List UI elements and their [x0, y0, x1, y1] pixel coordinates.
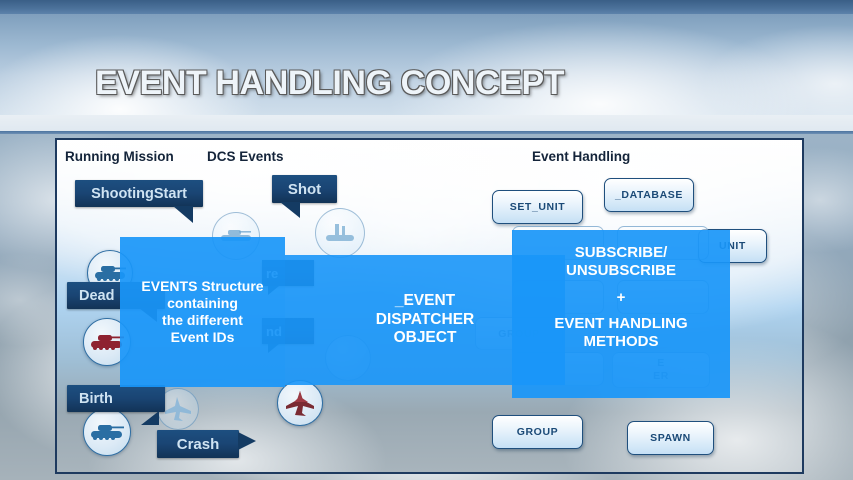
event-tag-label: ShootingStart: [91, 186, 187, 202]
api-box-label: GROUP: [517, 426, 559, 438]
overlay-event-handling: SUBSCRIBE/ UNSUBSCRIBE + EVENT HANDLING …: [512, 230, 730, 398]
event-tag-label: Crash: [177, 436, 220, 453]
api-box-label: _DATABASE: [615, 189, 683, 201]
event-tag-crash[interactable]: Crash: [157, 430, 239, 458]
overlay-plus-sign: +: [617, 290, 626, 305]
page-title: EVENT HANDLING CONCEPT: [95, 64, 564, 103]
event-tag-shot[interactable]: Shot: [272, 175, 337, 203]
header-dcs-events: DCS Events: [207, 149, 284, 164]
api-box-database[interactable]: _DATABASE: [604, 178, 694, 212]
overlay-line-3: EVENT HANDLING: [554, 315, 687, 333]
overlay-line-4: Event IDs: [171, 329, 235, 346]
event-tag-shootingstart[interactable]: ShootingStart: [75, 180, 203, 207]
tag-tail: [173, 206, 193, 223]
header-running-mission: Running Mission: [65, 149, 174, 164]
api-box-label: SPAWN: [650, 432, 691, 444]
slide-stage: EVENT HANDLING CONCEPT Running Mission D…: [0, 0, 853, 480]
vehicle-badge-tank-birth: [83, 408, 131, 456]
top-accent-bar: [0, 0, 853, 14]
overlay-line-2: DISPATCHER: [376, 311, 474, 330]
overlay-line-1: EVENTS Structure: [141, 278, 263, 295]
title-banner: EVENT HANDLING CONCEPT: [0, 14, 853, 115]
header-event-handling: Event Handling: [532, 149, 630, 164]
api-box-spawn[interactable]: SPAWN: [627, 421, 714, 455]
fighter-jet-icon: [284, 389, 316, 417]
airplane-icon: [164, 396, 192, 422]
event-tag-label: Birth: [79, 391, 113, 407]
vehicle-badge-launcher-ghost: [315, 208, 365, 258]
overlay-line-1: _EVENT: [395, 292, 455, 311]
event-tag-label: Dead: [79, 288, 114, 304]
tank-icon: [89, 423, 125, 441]
tag-tail: [141, 411, 159, 425]
event-tag-birth[interactable]: Birth: [67, 385, 165, 412]
overlay-line-2: containing: [167, 295, 238, 312]
tag-tail: [280, 202, 300, 218]
overlay-line-3: the different: [162, 312, 243, 329]
diagram-panel: Running Mission DCS Events Event Handlin…: [55, 138, 804, 474]
banner-divider-line: [0, 131, 853, 134]
overlay-line-3: OBJECT: [394, 329, 457, 348]
missile-launcher-icon: [323, 222, 357, 244]
overlay-line-1: SUBSCRIBE/: [575, 244, 668, 262]
diagram-panel-inner: Running Mission DCS Events Event Handlin…: [57, 140, 802, 472]
tag-tail: [238, 432, 256, 450]
api-box-set-unit[interactable]: SET_UNIT: [492, 190, 583, 224]
api-box-label: SET_UNIT: [510, 201, 566, 213]
api-box-group[interactable]: GROUP: [492, 415, 583, 449]
overlay-events-structure: EVENTS Structure containing the differen…: [120, 237, 285, 387]
overlay-line-2: UNSUBSCRIBE: [566, 262, 676, 280]
overlay-line-4: METHODS: [584, 333, 659, 351]
event-tag-label: Shot: [288, 181, 321, 198]
